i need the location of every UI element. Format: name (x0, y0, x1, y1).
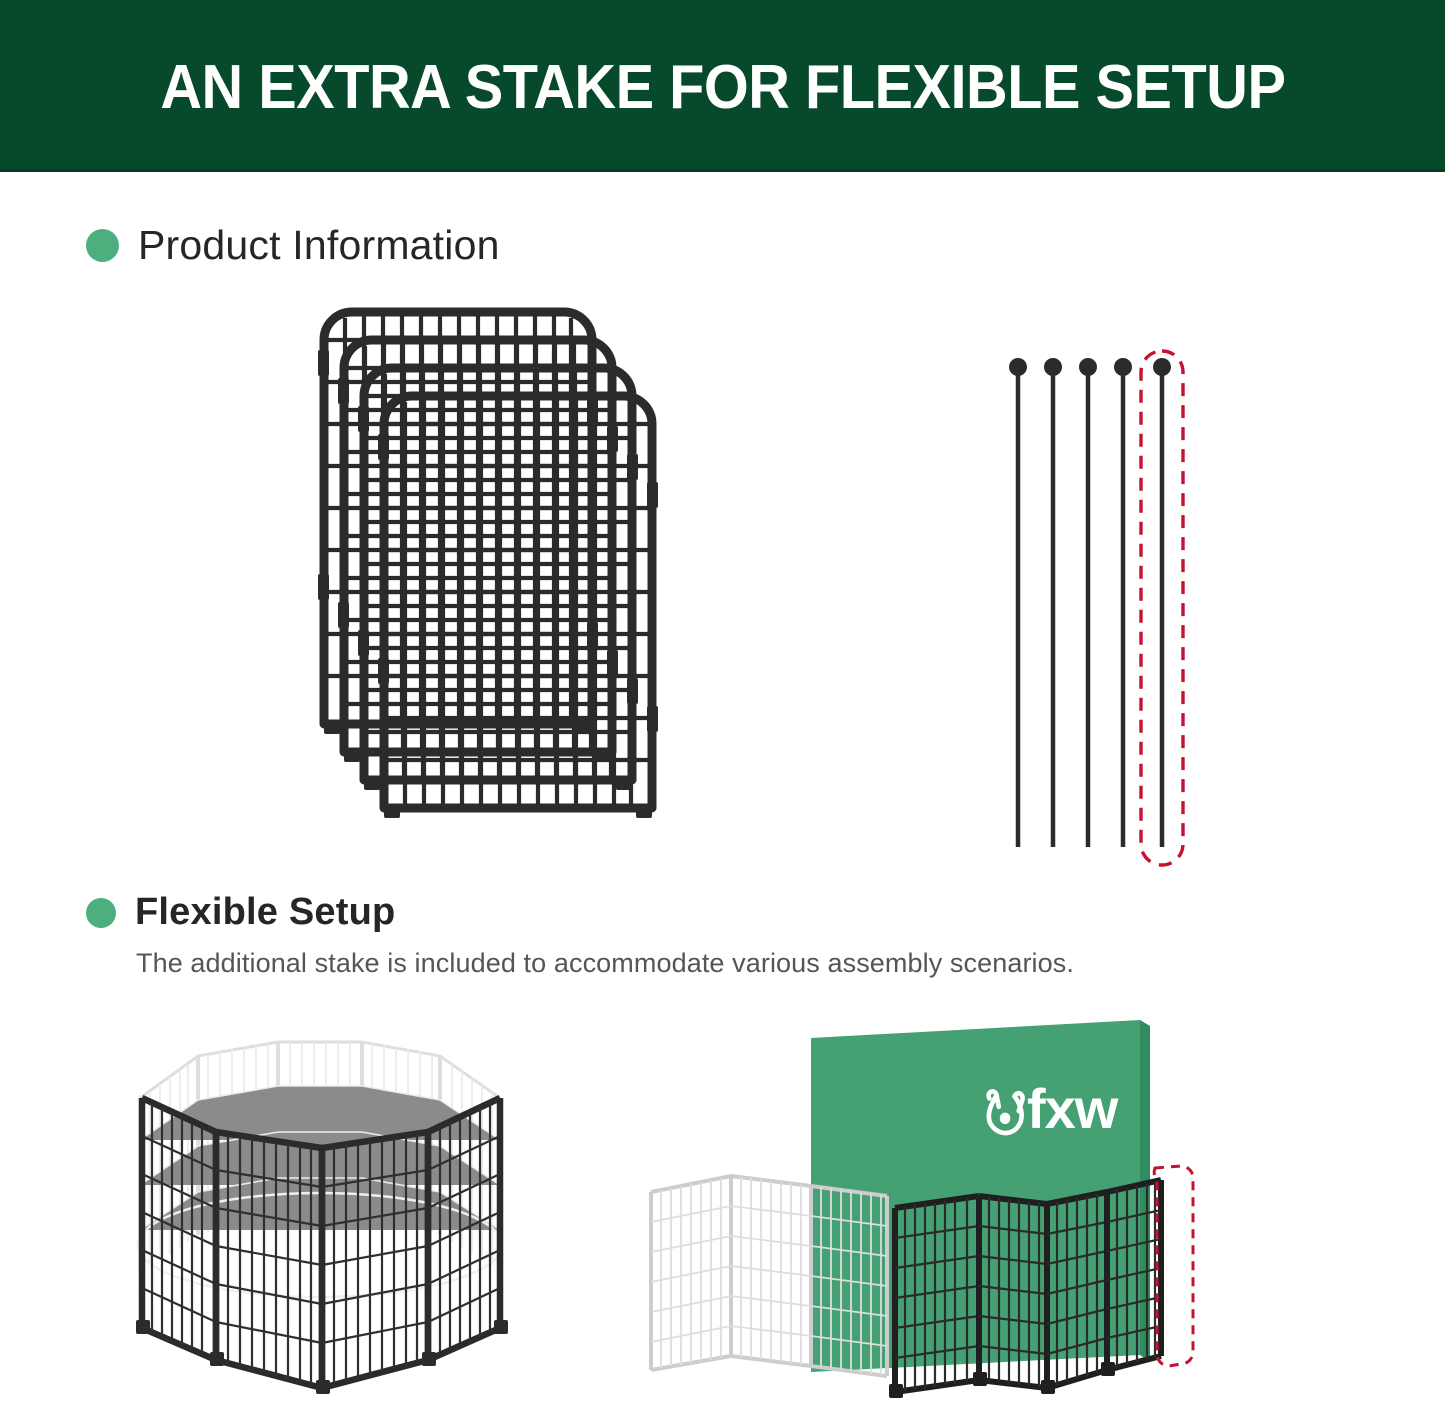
section-heading-label: Product Information (138, 222, 500, 269)
bullet-dot-icon (86, 898, 116, 928)
stake (1114, 358, 1132, 847)
bullet-dot-icon (86, 229, 119, 262)
ghost-playpen-outline (651, 1176, 887, 1376)
octagonal-playpen-illustration (100, 1020, 620, 1390)
stacked-fence-panels-illustration (300, 300, 700, 880)
page-title: AN EXTRA STAKE FOR FLEXIBLE SETUP (160, 57, 1285, 119)
stacked-panels-svg (300, 300, 700, 880)
section-heading-label: Flexible Setup (135, 891, 395, 934)
section-heading-flexible-setup: Flexible Setup (86, 891, 395, 934)
stake-highlighted-extra (1153, 358, 1171, 847)
fxw-wordmark: fxw (1027, 1077, 1119, 1140)
stake (1044, 358, 1062, 847)
wall-pen-svg: fxw (615, 1000, 1255, 1400)
stakes-svg (985, 345, 1215, 875)
stake (1079, 358, 1097, 847)
section-description: The additional stake is included to acco… (136, 948, 1074, 979)
section-heading-product-information: Product Information (86, 222, 500, 269)
ground-stakes-illustration (985, 345, 1215, 875)
stake (1009, 358, 1027, 847)
against-wall-playpen-illustration: fxw (615, 1000, 1255, 1400)
octagon-pen-svg (100, 1020, 620, 1390)
header-underline-divider (0, 169, 1445, 172)
page-header-band: AN EXTRA STAKE FOR FLEXIBLE SETUP (0, 0, 1445, 172)
